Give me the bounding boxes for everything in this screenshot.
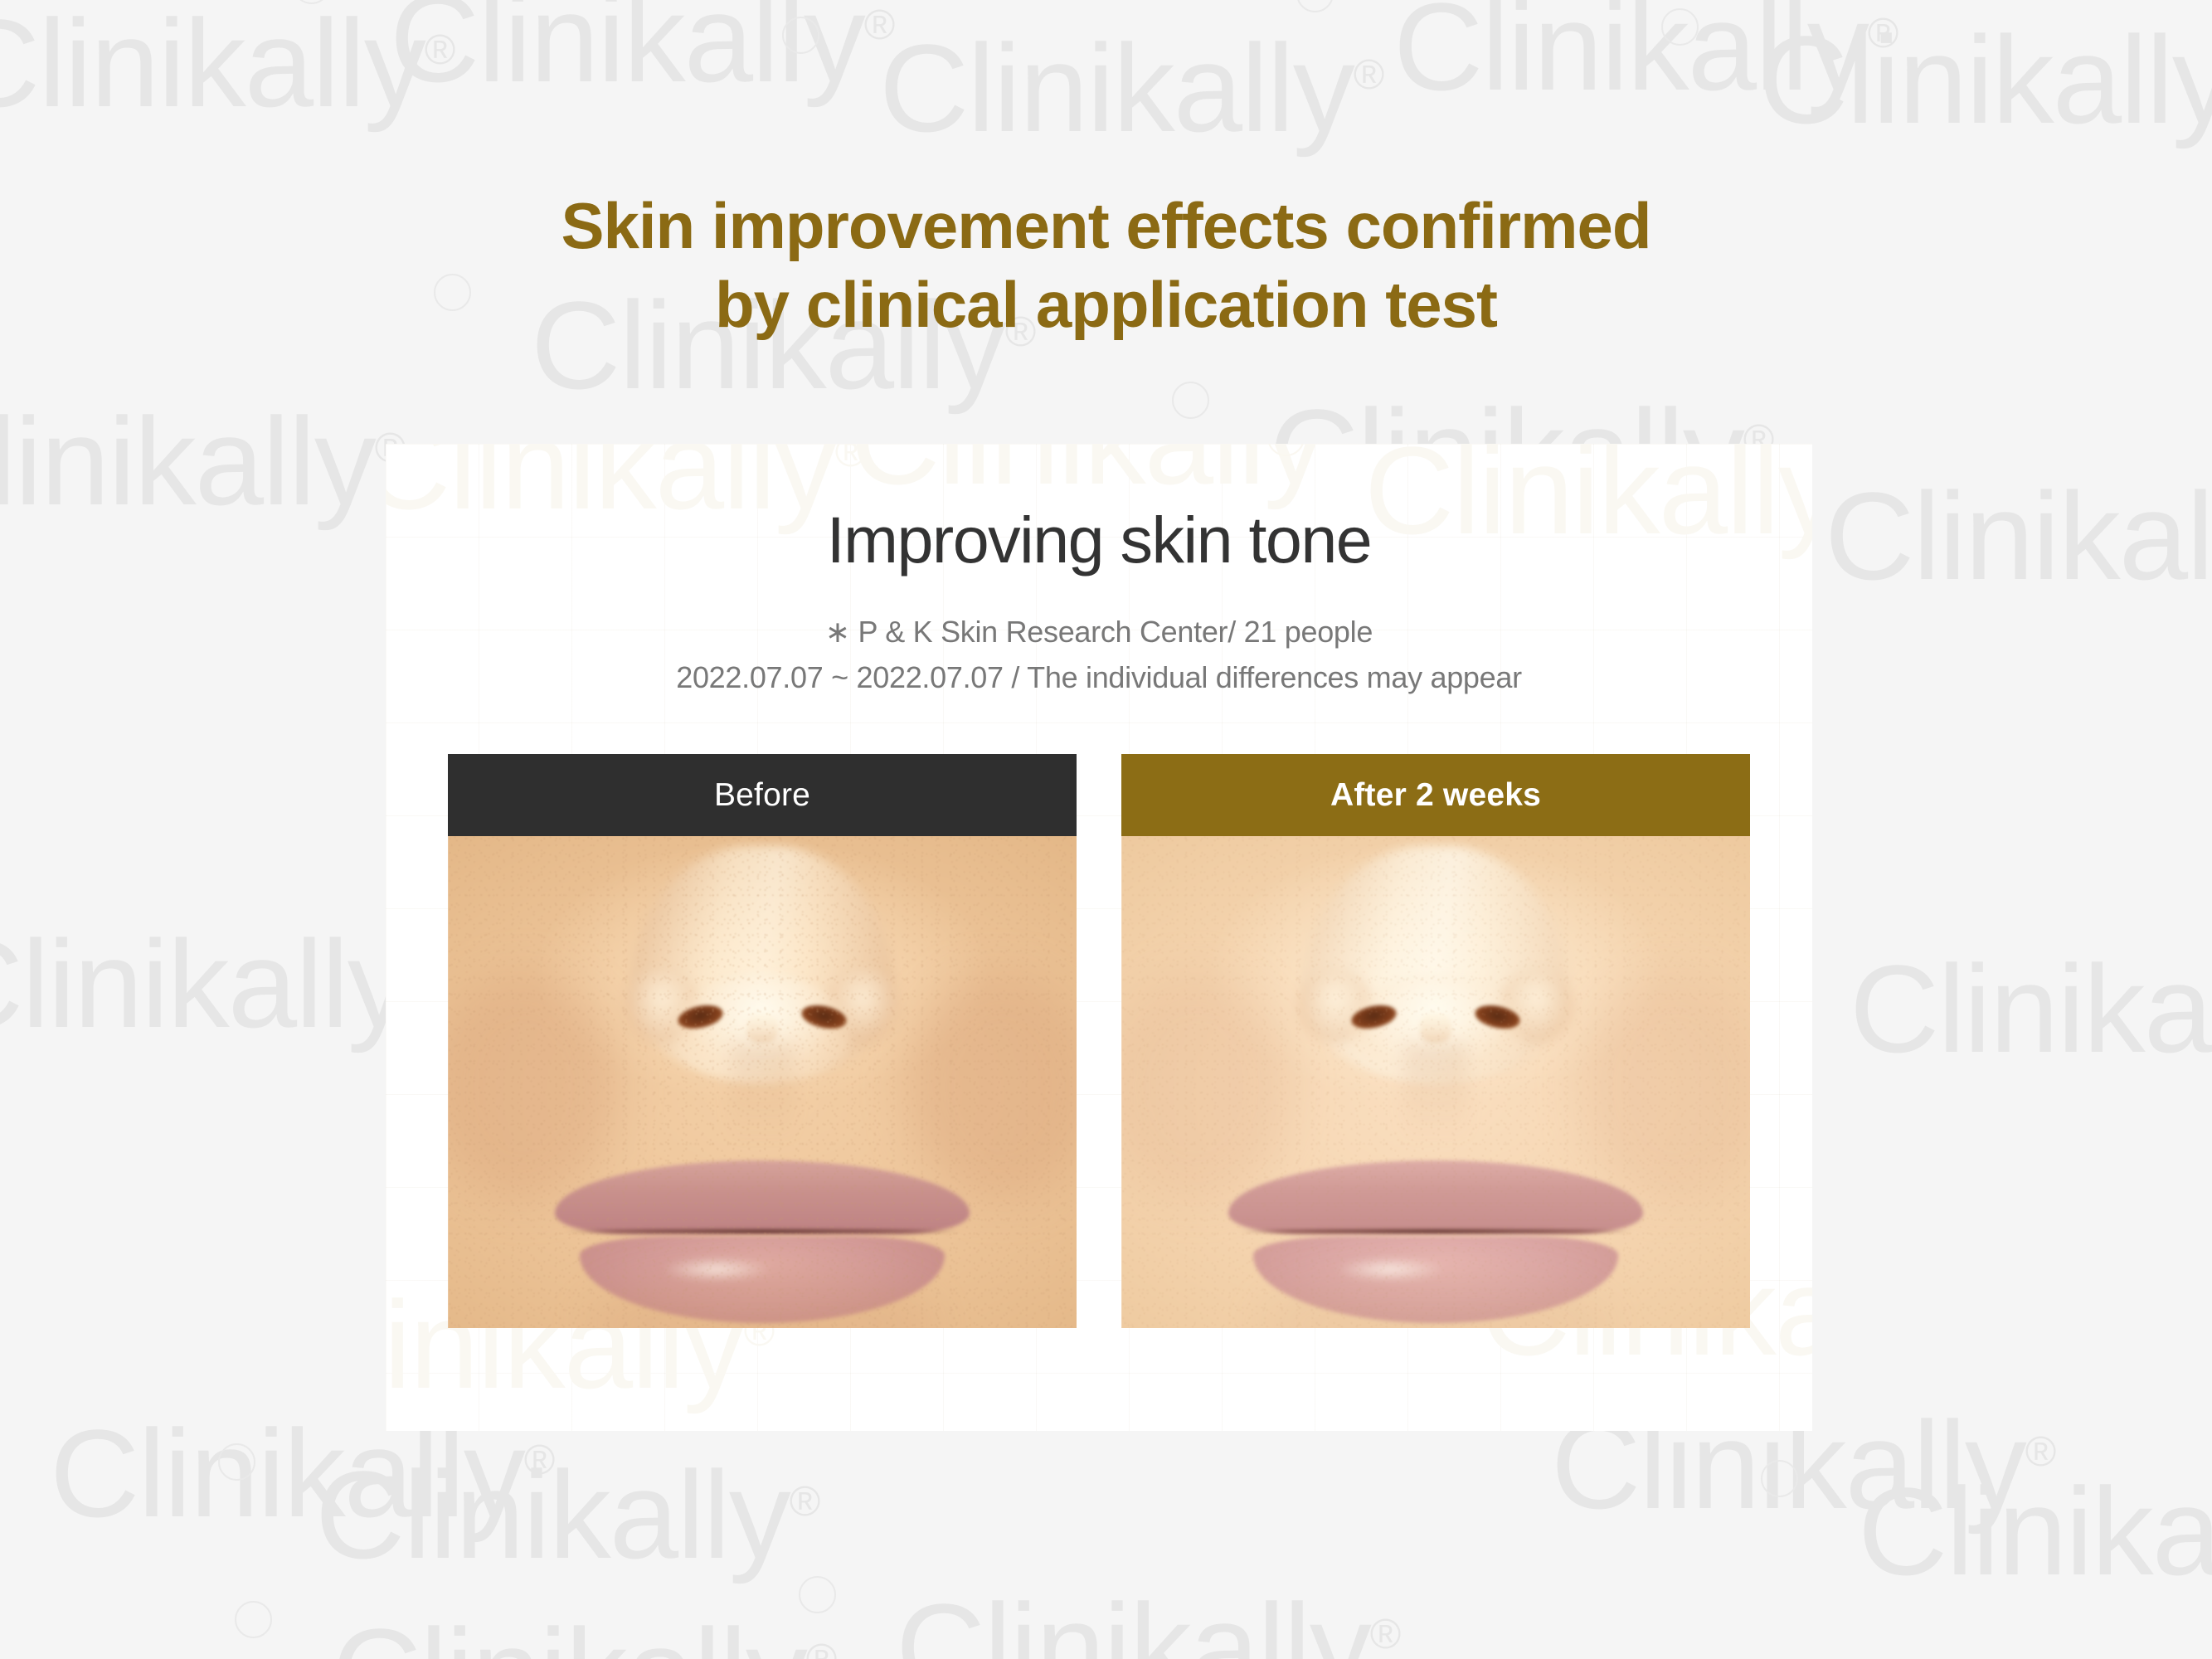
watermark: Clinikally® [390, 0, 895, 110]
study-source-line: ∗ P & K Skin Research Center/ 21 people [386, 610, 1812, 655]
comparison-panel-after: After 2 weeks [1121, 754, 1750, 1328]
photo-softener [448, 836, 1077, 1328]
panel-label-before: Before [448, 754, 1077, 836]
card-subtitle: ∗ P & K Skin Research Center/ 21 people … [386, 610, 1812, 700]
face-closeup-before [448, 836, 1077, 1328]
page-title: Skin improvement effects confirmed by cl… [0, 187, 2212, 344]
panel-label-after: After 2 weeks [1121, 754, 1750, 836]
watermark: Clinikally® [0, 912, 439, 1056]
watermark: Clinikally® [896, 1576, 1401, 1659]
watermark: Clinikally® [1825, 465, 2212, 608]
watermark: Clinikally® [0, 0, 455, 135]
comparison-panel-before: Before [448, 754, 1077, 1328]
watermark: Clinikally® [1393, 0, 1898, 119]
watermark: Clinikally® [1850, 937, 2212, 1081]
photo-after [1121, 836, 1750, 1328]
watermark: Clinikally® [0, 390, 406, 533]
watermark: Clinikally® [1858, 1460, 2212, 1603]
page-title-line-2: by clinical application test [0, 265, 2212, 344]
study-period-line: 2022.07.07 ~ 2022.07.07 / The individual… [386, 655, 1812, 701]
page-title-line-1: Skin improvement effects confirmed [0, 187, 2212, 265]
photo-before [448, 836, 1077, 1328]
watermark: Clinikally® [315, 1443, 820, 1587]
photo-softener [1121, 836, 1750, 1328]
card-title: Improving skin tone [386, 502, 1812, 578]
before-after-comparison: Before [448, 754, 1750, 1328]
watermark: Clinikally® [879, 17, 1384, 160]
clinical-result-card: Clinikally® Clinikally® Clinikally® Clin… [386, 444, 1812, 1431]
watermark: Clinikally® [1758, 8, 2212, 152]
watermark: Clinikally® [332, 1601, 837, 1659]
face-closeup-after [1121, 836, 1750, 1328]
